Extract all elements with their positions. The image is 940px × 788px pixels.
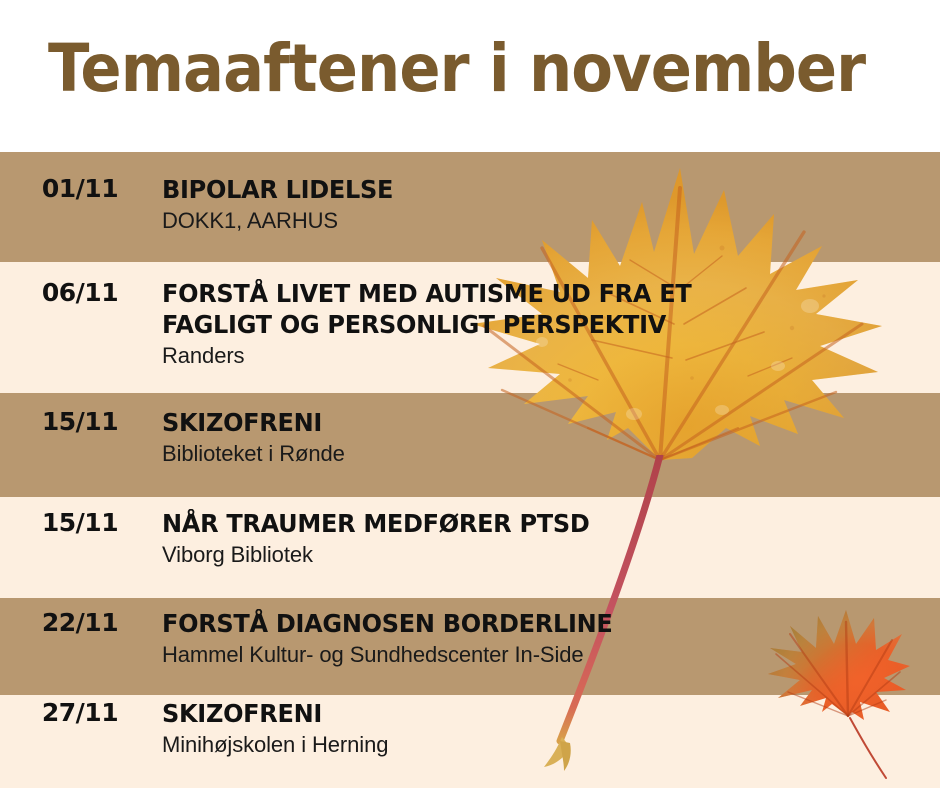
- event-date: 15/11: [0, 407, 160, 437]
- event-body: SKIZOFRENI Minihøjskolen i Herning: [160, 698, 940, 759]
- list-item[interactable]: 22/11 FORSTÅ DIAGNOSEN BORDERLINE Hammel…: [0, 608, 940, 669]
- list-item[interactable]: 15/11 SKIZOFRENI Biblioteket i Rønde: [0, 407, 940, 468]
- event-title: SKIZOFRENI: [162, 698, 909, 729]
- event-venue: Biblioteket i Rønde: [162, 440, 940, 468]
- event-body: BIPOLAR LIDELSE DOKK1, AARHUS: [160, 174, 940, 235]
- event-body: NÅR TRAUMER MEDFØRER PTSD Viborg Bibliot…: [160, 508, 940, 569]
- list-item[interactable]: 06/11 FORSTÅ LIVET MED AUTISME UD FRA ET…: [0, 278, 940, 370]
- event-title: BIPOLAR LIDELSE: [162, 174, 909, 205]
- event-body: SKIZOFRENI Biblioteket i Rønde: [160, 407, 940, 468]
- poster-canvas: Temaaftener i november 01/11 BIPOLAR LID…: [0, 0, 940, 788]
- event-venue: Randers: [162, 342, 940, 370]
- event-date: 01/11: [0, 174, 160, 204]
- event-venue: DOKK1, AARHUS: [162, 207, 940, 235]
- event-date: 06/11: [0, 278, 160, 308]
- list-item[interactable]: 01/11 BIPOLAR LIDELSE DOKK1, AARHUS: [0, 174, 940, 235]
- event-venue: Viborg Bibliotek: [162, 541, 940, 569]
- event-title: FORSTÅ LIVET MED AUTISME UD FRA ET: [162, 278, 909, 309]
- event-body: FORSTÅ DIAGNOSEN BORDERLINE Hammel Kultu…: [160, 608, 940, 669]
- event-title: NÅR TRAUMER MEDFØRER PTSD: [162, 508, 909, 539]
- list-item[interactable]: 27/11 SKIZOFRENI Minihøjskolen i Herning: [0, 698, 940, 759]
- event-body: FORSTÅ LIVET MED AUTISME UD FRA ET FAGLI…: [160, 278, 940, 370]
- event-venue: Minihøjskolen i Herning: [162, 731, 940, 759]
- event-title: FORSTÅ DIAGNOSEN BORDERLINE: [162, 608, 909, 639]
- event-date: 27/11: [0, 698, 160, 728]
- event-title: SKIZOFRENI: [162, 407, 909, 438]
- event-date: 15/11: [0, 508, 160, 538]
- page-title: Temaaftener i november: [48, 30, 865, 107]
- event-title-line2: FAGLIGT OG PERSONLIGT PERSPEKTIV: [162, 309, 909, 340]
- event-venue: Hammel Kultur- og Sundhedscenter In-Side: [162, 641, 940, 669]
- event-date: 22/11: [0, 608, 160, 638]
- list-item[interactable]: 15/11 NÅR TRAUMER MEDFØRER PTSD Viborg B…: [0, 508, 940, 569]
- poster-header: Temaaftener i november: [0, 0, 940, 152]
